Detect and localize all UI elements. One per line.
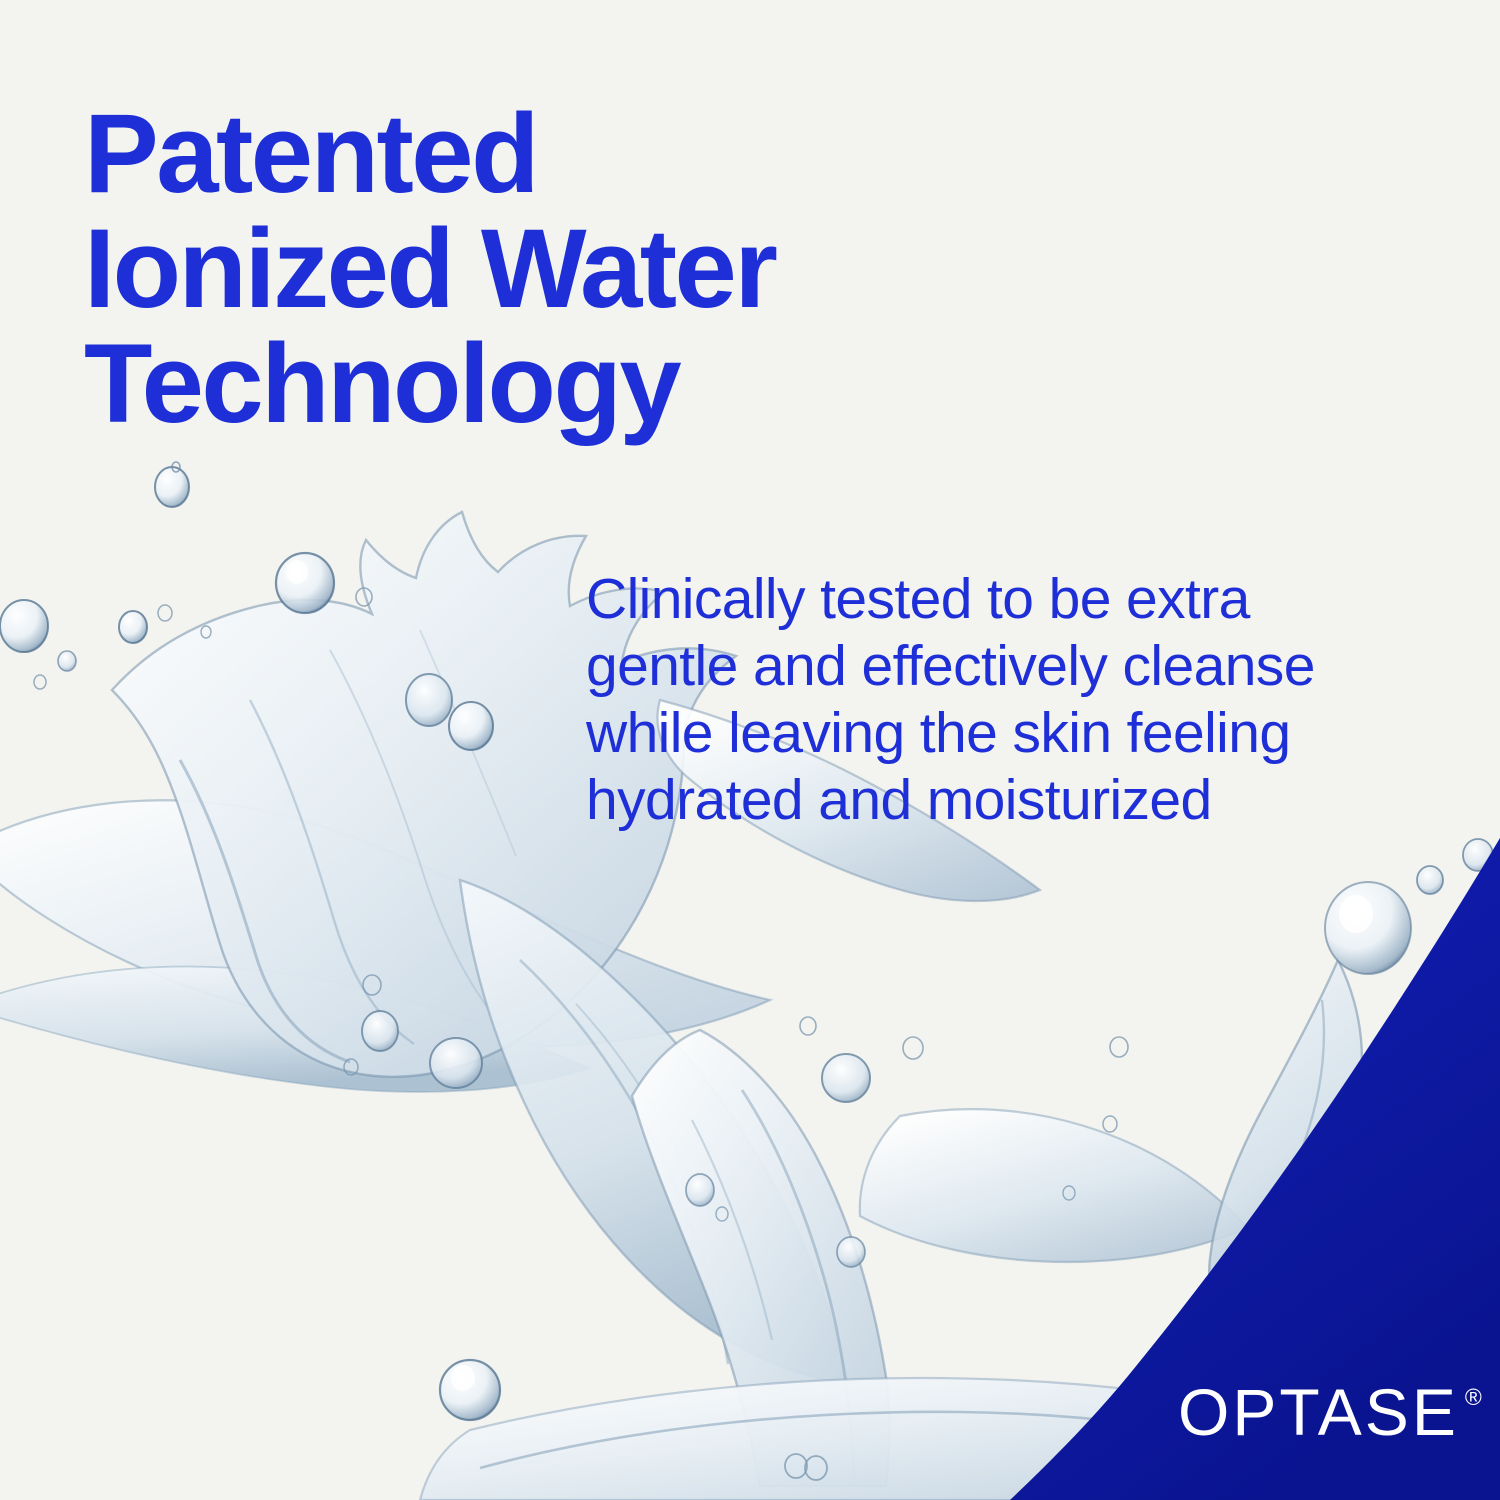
- brand-name: OPTASE: [1178, 1378, 1459, 1446]
- promo-banner: Patented Ionized Water Technology Clinic…: [0, 0, 1500, 1500]
- brand-logo: OPTASE ®: [1178, 1378, 1482, 1446]
- registered-trademark-icon: ®: [1465, 1382, 1482, 1412]
- product-description: Clinically tested to be extra gentle and…: [586, 566, 1456, 834]
- page-title: Patented Ionized Water Technology: [84, 96, 1064, 441]
